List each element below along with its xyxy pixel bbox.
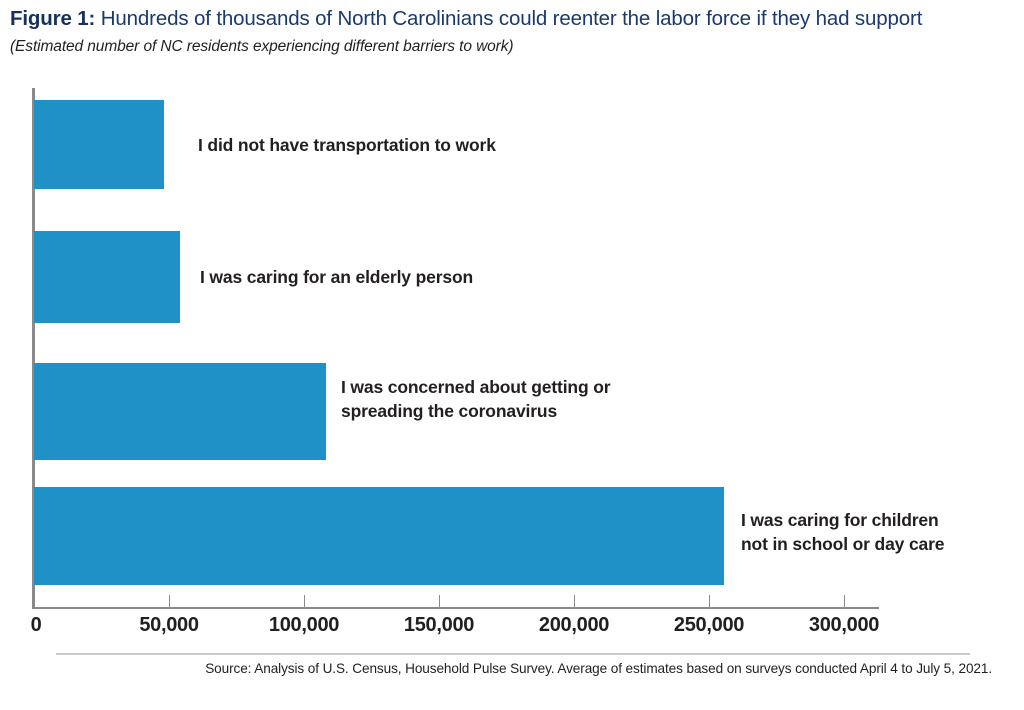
x-axis-line [34,607,879,609]
x-tick-label-2: 100,000 [269,614,339,637]
x-tick-label-4: 200,000 [539,614,609,637]
bar-label-elderly-care: I was caring for an elderly person [200,265,473,289]
bar-coronavirus-concern[interactable] [34,363,326,460]
bar-childcare[interactable] [34,487,724,585]
source-note: Source: Analysis of U.S. Census, Househo… [0,661,992,676]
x-tick-label-5: 250,000 [674,614,744,637]
x-tick-label-6: 300,000 [809,614,879,637]
x-tick-mark [439,595,441,608]
x-tick-mark [169,595,171,608]
x-tick-label-1: 50,000 [139,614,198,637]
bar-label-coronavirus-concern: I was concerned about getting or spreadi… [341,375,610,423]
x-tick-mark [34,595,36,608]
x-tick-mark [709,595,711,608]
x-tick-mark [574,595,576,608]
bar-elderly-care[interactable] [34,231,180,323]
x-tick-label-3: 150,000 [404,614,474,637]
x-tick-mark [304,595,306,608]
x-tick-label-0: 0 [31,614,42,637]
footer-divider [56,653,970,655]
bar-chart: 0 50,000 100,000 150,000 200,000 250,000… [0,0,1024,710]
bar-label-transportation: I did not have transportation to work [198,133,496,157]
bar-transportation[interactable] [34,100,164,189]
x-tick-mark [844,595,846,608]
bar-label-childcare: I was caring for children not in school … [741,508,944,556]
